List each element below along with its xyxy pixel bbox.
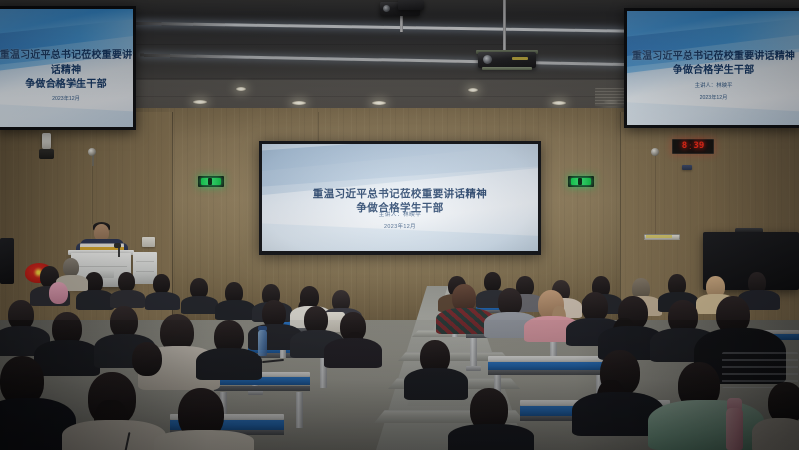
speaker-body-left (39, 149, 54, 159)
lecture-hall-scene: 8 : 39 重温习近平总书记莅校重要讲话精神 争做合格学生干部 主讲人：林映平… (0, 0, 799, 450)
clock-separator: : (689, 142, 691, 151)
tv-left-date: 2023年12月 (0, 95, 133, 102)
right-wall-display: 重温习近平总书记莅校重要讲话精神 争做合格学生干部 主讲人：林映平 2023年1… (624, 8, 799, 128)
wall-device-right (682, 165, 692, 170)
tv-left-presenter: 主讲人：林映平 (0, 81, 133, 89)
exit-sign-right (568, 176, 594, 187)
tv-right-title-line1: 重温习近平总书记莅校重要讲话精神 (627, 50, 799, 65)
clock-minutes: 39 (693, 142, 704, 151)
left-wall-display: 重温习近平总书记莅校重要讲话精神 争做合格学生干部 主讲人：林映平 2023年1… (0, 6, 136, 130)
projection-screen: 重温习近平总书记莅校重要讲话精神 争做合格学生干部 主讲人：林映平 2023年1… (259, 141, 541, 255)
tv-right-date: 2023年12月 (627, 94, 799, 101)
exit-sign-left (198, 176, 224, 187)
tv-right-title-line2: 争做合格学生干部 (627, 64, 799, 79)
wall-socket-left (142, 237, 155, 247)
wall-camera-right (651, 148, 659, 156)
dark-monitor-left (0, 238, 14, 284)
microphone (114, 243, 121, 248)
screen-title-line1: 重温习近平总书记莅校重要讲话精神 (262, 187, 538, 201)
clock-hours: 8 (682, 142, 687, 151)
microphone-stand (118, 247, 120, 257)
tv-left-title-line1: 重温习近平总书记莅校重要讲话精神 (0, 49, 133, 78)
tv-right-presenter: 主讲人：林映平 (627, 81, 799, 89)
screen-date: 2023年12月 (262, 222, 538, 230)
led-wall-clock: 8 : 39 (672, 139, 714, 154)
wall-speaker-left (42, 133, 51, 149)
screen-presenter: 主讲人：林映平 (262, 210, 538, 218)
wall-camera-left (88, 148, 96, 156)
